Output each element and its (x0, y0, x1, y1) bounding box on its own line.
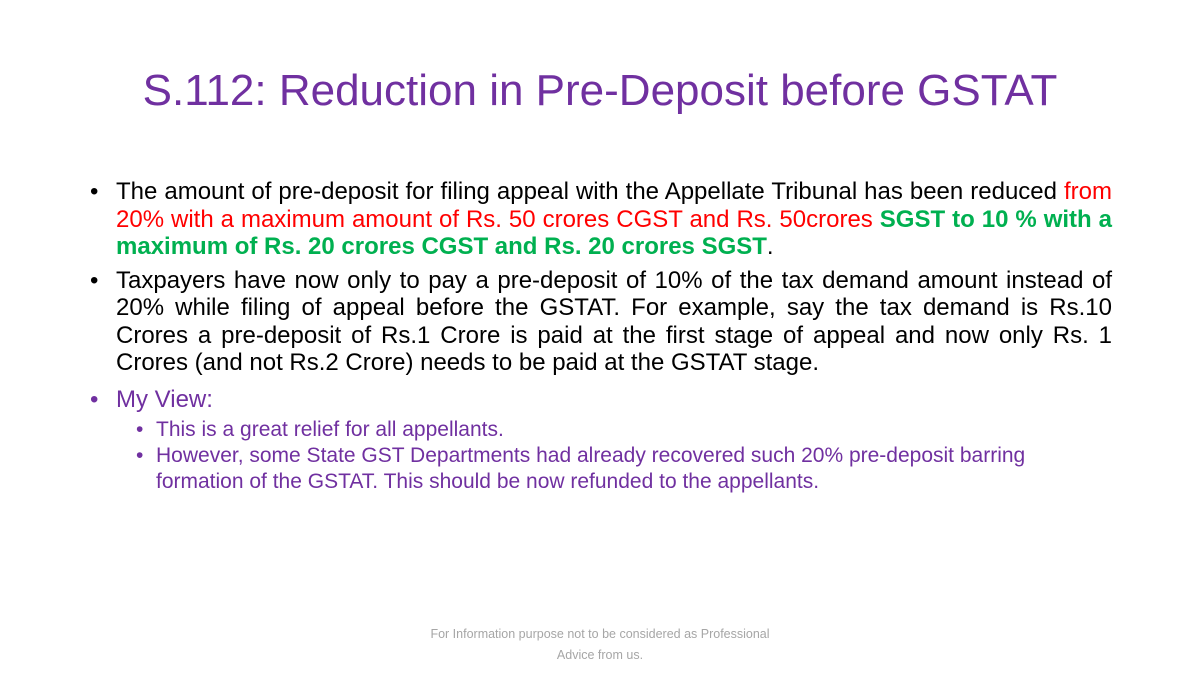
bullet-text: Taxpayers have now only to pay a pre-dep… (116, 267, 1112, 377)
sub-bullet-relief: • This is a great relief for all appella… (134, 417, 1112, 443)
bullet-marker-icon: • (90, 178, 98, 206)
sub-bullet-text: However, some State GST Departments had … (156, 443, 1112, 494)
sub-bullet-refund: • However, some State GST Departments ha… (134, 443, 1112, 494)
bullet-marker-icon: • (136, 443, 143, 469)
slide-body: • The amount of pre-deposit for filing a… (88, 178, 1112, 495)
bullet-marker-icon: • (90, 267, 98, 295)
bullet-marker-icon: • (136, 417, 143, 443)
bullet-marker-icon: • (90, 385, 98, 415)
sub-bullet-text: This is a great relief for all appellant… (156, 417, 1112, 443)
bullet-pre-deposit-reduction: • The amount of pre-deposit for filing a… (88, 178, 1112, 261)
run-black-intro: The amount of pre-deposit for filing app… (116, 178, 1064, 205)
my-view-label: My View: (116, 385, 1112, 415)
slide-footer-disclaimer: For Information purpose not to be consid… (300, 624, 900, 666)
page-title: S.112: Reduction in Pre-Deposit before G… (60, 64, 1140, 118)
bullet-my-view-heading: • My View: (88, 385, 1112, 415)
bullet-taxpayer-example: • Taxpayers have now only to pay a pre-d… (88, 267, 1112, 377)
my-view-sub-list: • This is a great relief for all appella… (134, 417, 1112, 495)
bullet-text: The amount of pre-deposit for filing app… (116, 178, 1112, 261)
footer-line-1: For Information purpose not to be consid… (300, 624, 900, 645)
footer-line-2: Advice from us. (300, 645, 900, 666)
run-black-period: . (767, 233, 774, 260)
slide-canvas: S.112: Reduction in Pre-Deposit before G… (0, 0, 1200, 675)
